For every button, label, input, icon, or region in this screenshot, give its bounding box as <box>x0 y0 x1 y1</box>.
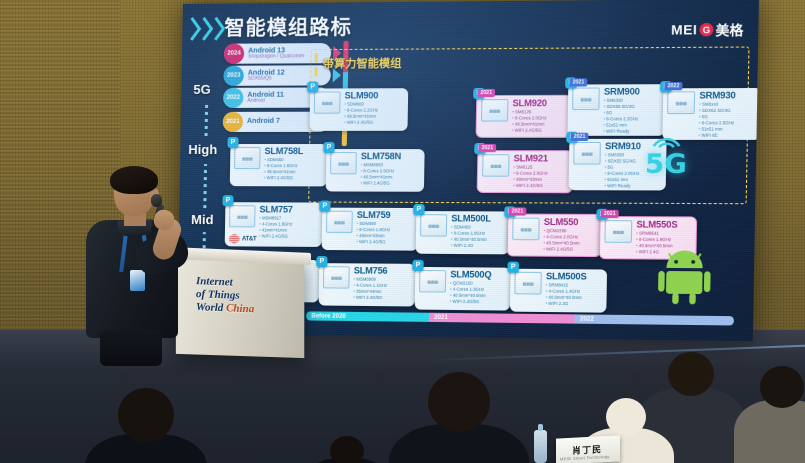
product-spec: WIFI 2.4G/5G <box>353 295 387 302</box>
product-info: SLM758LSDM4508-Cores 1.8GHz48.5mm*41mmWI… <box>264 147 303 183</box>
pill-year-badge: 2024 <box>224 44 244 64</box>
timeline-segment: 2021 <box>429 313 575 324</box>
product-spec: WIFI 2.4G/5G <box>344 120 378 126</box>
product-spec-list: SRM84154-Cores 1.4GHz40.5mm*40.5mmWIFI 2… <box>545 282 586 307</box>
pill-year-badge: 2023 <box>223 66 243 86</box>
product-name: SRM900 <box>604 87 640 96</box>
product-name: SLM758L <box>264 147 303 156</box>
timeline-label: 2022 <box>580 316 594 322</box>
audience-head <box>760 366 804 408</box>
product-spec-list: SM61258-Cores 2.0GHz48mm*43mmWIFI 2.4G/5… <box>513 164 548 189</box>
platform-badge: P <box>222 195 233 206</box>
pill-android-version: Android 12SDX55/Q5 <box>248 69 285 82</box>
product-name: SLM550 <box>544 218 580 227</box>
product-spec-list: MSM89538-Cores 2.0GHz48.5mm*41mmWIFI 2.4… <box>360 162 401 187</box>
module-photo: ▦▦▦ <box>667 91 695 114</box>
product-card-slm759[interactable]: ▦▦▦SLM759SDM4508-Cores 1.8GHz48mm*43mmWI… <box>322 208 419 251</box>
timeline-segment: Before 2020 <box>306 311 429 322</box>
product-year-badge: 2022 <box>664 82 682 90</box>
module-photo: ▦▦▦ <box>572 88 600 111</box>
pill-android-note: SDX55/Q5 <box>248 77 285 82</box>
event-name-highlight: China <box>226 302 254 315</box>
module-photo: ▦▦▦ <box>330 152 357 174</box>
water-bottle <box>534 430 547 463</box>
product-spec-list: MSM89174-Cores 1.8GHz41mm*41mmWIFI 2.4G/… <box>259 215 293 240</box>
platform-badge: P <box>413 204 425 215</box>
product-spec: WIFI Ready <box>604 184 640 190</box>
product-card-slm900[interactable]: ▦▦▦SLM900SDM6608-Cores 2.2GHz48.5mm*41mm… <box>309 88 408 131</box>
module-photo: ▦▦▦ <box>514 272 542 295</box>
product-spec: WIFI 2.4G/5G <box>264 175 303 181</box>
presenter-hair <box>110 166 158 194</box>
product-info: SRM930SM6xx0SDX62 5G/4G5G8-Cores 2.5GHz5… <box>699 91 736 137</box>
module-photo: ▦▦▦ <box>323 266 350 288</box>
compute-module-region-label: 带算力智能模组 <box>323 55 402 72</box>
product-spec-list: SDM4508-Cores 1.8GHz48.5mm*41mmWIFI 2.4G… <box>264 157 303 182</box>
product-spec-list: SM6350SDX55 5G/4G5G8-Cores 2.2GHz51x51 m… <box>603 98 639 136</box>
timeline-label: 2021 <box>434 314 448 320</box>
product-name: SLM500Q <box>450 270 491 280</box>
product-card-slm500s[interactable]: ▦▦▦SLM500SSRM84154-Cores 1.4GHz40.5mm*40… <box>510 269 607 313</box>
conference-room-scene: 智能模组路标 MEI G 美格 5G High Mid 2024Android … <box>0 0 805 463</box>
platform-badge: P <box>507 262 519 273</box>
pill-android-note: Snapdragon / Qualcomm <box>248 54 304 60</box>
platform-badge: P <box>412 260 424 271</box>
product-card-slm500q[interactable]: ▦▦▦SLM500QQCM21504-Cores 1.3GHz40.5mm*40… <box>415 267 511 311</box>
product-info: SLM900SDM6608-Cores 2.2GHz48.5mm*41mmWIF… <box>344 91 378 128</box>
meig-brand-logo: MEI G 美格 <box>671 20 744 40</box>
product-info: SLM920SM61258-Cores 2.0GHz48.5mm*41mmWIF… <box>512 99 547 134</box>
presenter-legs <box>100 330 162 366</box>
product-spec-list: SM6xx0SDX62 5G/4G5G8-Cores 2.5GHz51x51 m… <box>699 102 736 140</box>
product-spec: WIFI Ready <box>603 129 639 135</box>
audience-head <box>118 388 174 442</box>
attendee-affiliation: MEIG Smart Technology <box>560 454 610 462</box>
presenter-badge <box>130 270 145 291</box>
axis-label-high: High <box>188 142 217 157</box>
pill-year-badge: 2022 <box>223 88 243 108</box>
product-card-srm930[interactable]: ▦▦▦SRM930SM6xx0SDX62 5G/4G5G8-Cores 2.5G… <box>662 88 759 140</box>
chevron-right-icon <box>202 16 214 42</box>
product-spec: WIFI 2.4G/5G <box>450 299 491 306</box>
product-spec: WIFI 2.4G/5G <box>512 128 546 134</box>
five-g-text: 5G <box>645 149 687 180</box>
product-spec: WIFI 2.4G <box>545 301 586 308</box>
product-spec-list: QCM22904-Cores 2.0GHz40.5mm*40.5mmWIFI 2… <box>543 228 580 253</box>
audience-head <box>668 352 714 396</box>
five-g-glyph: 5G <box>645 136 688 180</box>
product-card-slm921[interactable]: ▦▦▦SLM921SM61258-Cores 2.0GHz48mm*43mmWI… <box>477 150 574 193</box>
platform-badge: P <box>307 81 318 92</box>
module-photo: ▦▦▦ <box>326 211 353 233</box>
product-card-slm550[interactable]: ▦▦▦SLM550QCM22904-Cores 2.0GHz40.5mm*40.… <box>507 214 602 258</box>
platform-badge: P <box>319 201 330 212</box>
product-name: SLM500S <box>546 272 587 282</box>
axis-divider-dots <box>205 102 209 136</box>
product-year-badge: 2021 <box>570 133 588 141</box>
platform-badge: P <box>323 142 334 153</box>
module-photo: ▦▦▦ <box>604 220 632 243</box>
timeline-segment: 2022 <box>575 314 734 325</box>
region-tick-mark <box>315 53 318 62</box>
product-spec: WIFI 2.4G/5G <box>356 239 390 245</box>
product-name: SLM500L <box>451 214 491 223</box>
product-info: SLM759SDM4508-Cores 1.8GHz48mm*43mmWIFI … <box>356 211 390 248</box>
module-photo: ▦▦▦ <box>481 99 508 122</box>
product-card-slm920[interactable]: ▦▦▦SLM920SM61258-Cores 2.0GHz48.5mm*41mm… <box>476 95 573 138</box>
product-spec-list: SDM4508-Cores 1.8GHz48mm*43mmWIFI 2.4G/5… <box>356 221 390 246</box>
timeline-label: Before 2020 <box>311 313 346 319</box>
pill-android-version: Android 11Android <box>247 91 284 104</box>
product-name: SRM930 <box>699 91 735 100</box>
product-name: SLM757 <box>259 205 292 214</box>
product-name: SLM550S <box>636 220 677 230</box>
product-info: SRM910SM6350SDX55 5G/4G5G8-Cores 2.0GHz5… <box>604 142 641 187</box>
roadmap-timeline: Before 202020212022 <box>306 311 734 325</box>
product-spec: WIFI 2.4G <box>451 243 491 249</box>
product-info: SLM758NMSM89538-Cores 2.0GHz48.5mm*41mmW… <box>360 152 401 189</box>
module-photo: ▦▦▦ <box>234 147 261 169</box>
product-info: SLM500LSDM4508-Cores 1.8GHz40.5mm*40.5mm… <box>451 214 491 251</box>
product-info: SLM757MSM89174-Cores 1.8GHz41mm*41mmWIFI… <box>259 205 293 243</box>
audience-head <box>330 436 364 463</box>
product-year-badge: 2021 <box>478 144 496 152</box>
product-info: SRM900SM6350SDX55 5G/4G5G8-Cores 2.2GHz5… <box>603 87 640 132</box>
product-spec: WIFI 2.4G/5G <box>360 181 400 187</box>
product-name: SLM900 <box>345 91 379 100</box>
pill-year-badge: 2021 <box>223 112 243 132</box>
platform-badge: P <box>316 256 327 267</box>
region-tick-mark <box>314 67 317 76</box>
product-info: SLM550QCM22904-Cores 2.0GHz40.5mm*40.5mm… <box>543 218 580 253</box>
product-card-slm500l[interactable]: ▦▦▦SLM500LSDM4508-Cores 1.8GHz40.5mm*40.… <box>416 211 510 254</box>
product-spec: WIFI 2.4G/5G <box>543 247 579 254</box>
product-spec: WIFI 2.4G/5G <box>259 234 292 240</box>
audience-head <box>606 398 646 436</box>
microphone-head-icon <box>151 194 162 207</box>
product-spec-list: SDM6608-Cores 2.2GHz48.5mm*41mmWIFI 2.4G… <box>344 101 378 126</box>
product-info: SLM500SSRM84154-Cores 1.4GHz40.5mm*40.5m… <box>545 272 586 309</box>
product-card-slm758l[interactable]: ▦▦▦SLM758LSDM4508-Cores 1.8GHz48.5mm*41m… <box>230 144 328 186</box>
product-year-badge: 2021 <box>601 210 619 218</box>
module-photo: ▦▦▦ <box>229 205 256 227</box>
product-name: SLM920 <box>512 99 547 108</box>
product-spec-list: SDM4508-Cores 1.8GHz40.5mm*40.5mmWIFI 2.… <box>451 224 491 249</box>
module-photo: ▦▦▦ <box>314 91 341 113</box>
chevron-decor-group <box>190 16 226 42</box>
brand-mark-icon: G <box>699 23 713 37</box>
module-photo: ▦▦▦ <box>482 154 509 177</box>
att-globe-icon <box>229 234 240 243</box>
axis-label-5g: 5G <box>193 82 211 97</box>
product-spec-list: MSM89094-Cores 1.1GHz35mm*44mmWIFI 2.4G/… <box>353 277 387 302</box>
pill-android-version: Android 13Snapdragon / Qualcomm <box>248 47 304 60</box>
att-wordmark: AT&T <box>242 236 257 242</box>
product-info: SLM756MSM89094-Cores 1.1GHz35mm*44mmWIFI… <box>353 266 387 303</box>
product-year-badge: 2021 <box>569 78 587 86</box>
product-card-srm900[interactable]: ▦▦▦SRM900SM6350SDX55 5G/4G5G8-Cores 2.2G… <box>567 84 665 136</box>
event-branding-sign: Internet of Things World China <box>196 275 292 318</box>
module-photo: ▦▦▦ <box>512 218 540 241</box>
product-info: SLM500QQCM21504-Cores 1.3GHz40.5mm*40.5m… <box>450 270 492 307</box>
product-name: SLM756 <box>354 266 388 275</box>
wifi-arc-icon <box>645 136 687 149</box>
presenter <box>78 170 208 360</box>
product-card-slm758n[interactable]: ▦▦▦SLM758NMSM89538-Cores 2.0GHz48.5mm*41… <box>326 149 425 192</box>
module-photo: ▦▦▦ <box>573 142 601 165</box>
module-photo: ▦▦▦ <box>420 214 447 237</box>
product-name: SRM910 <box>605 142 641 151</box>
pill-android-version: Android 7 <box>247 118 280 125</box>
product-spec: WIFI 6E <box>699 133 735 139</box>
chevron-right-icon <box>190 16 202 42</box>
carrier-logo-att: AT&T <box>229 234 257 243</box>
product-name: SLM758N <box>361 152 401 161</box>
audience-torso <box>734 400 805 463</box>
attendee-nameplate: 肖丁民 MEIG Smart Technology <box>556 435 620 463</box>
product-info: SLM921SM61258-Cores 2.0GHz48mm*43mmWIFI … <box>513 154 548 189</box>
audience-head <box>428 372 490 432</box>
platform-badge: P <box>227 137 238 148</box>
product-card-slm756[interactable]: ▦▦▦SLM756MSM89094-Cores 1.1GHz35mm*44mmW… <box>319 263 416 306</box>
module-photo: ▦▦▦ <box>419 270 446 293</box>
slide-title: 智能模组路标 <box>224 11 352 41</box>
product-name: SLM921 <box>514 154 549 163</box>
product-spec-list: QCM21504-Cores 1.3GHz40.5mm*40.5mmWIFI 2… <box>450 280 492 305</box>
product-name: SLM759 <box>357 211 391 220</box>
brand-latin-text: MEI <box>671 22 698 38</box>
product-year-badge: 2021 <box>508 207 526 215</box>
android-robot-icon <box>656 247 713 311</box>
pill-android-note: Android <box>247 99 284 104</box>
product-spec-list: SM6350SDX55 5G/4G5G8-Cores 2.0GHz51x51 m… <box>604 152 640 190</box>
product-spec: WIFI 2.4G/5G <box>513 183 547 189</box>
product-year-badge: 2021 <box>477 89 495 97</box>
product-spec-list: SM61258-Cores 2.0GHz48.5mm*41mmWIFI 2.4G… <box>512 109 547 134</box>
brand-chinese-text: 美格 <box>715 20 743 40</box>
